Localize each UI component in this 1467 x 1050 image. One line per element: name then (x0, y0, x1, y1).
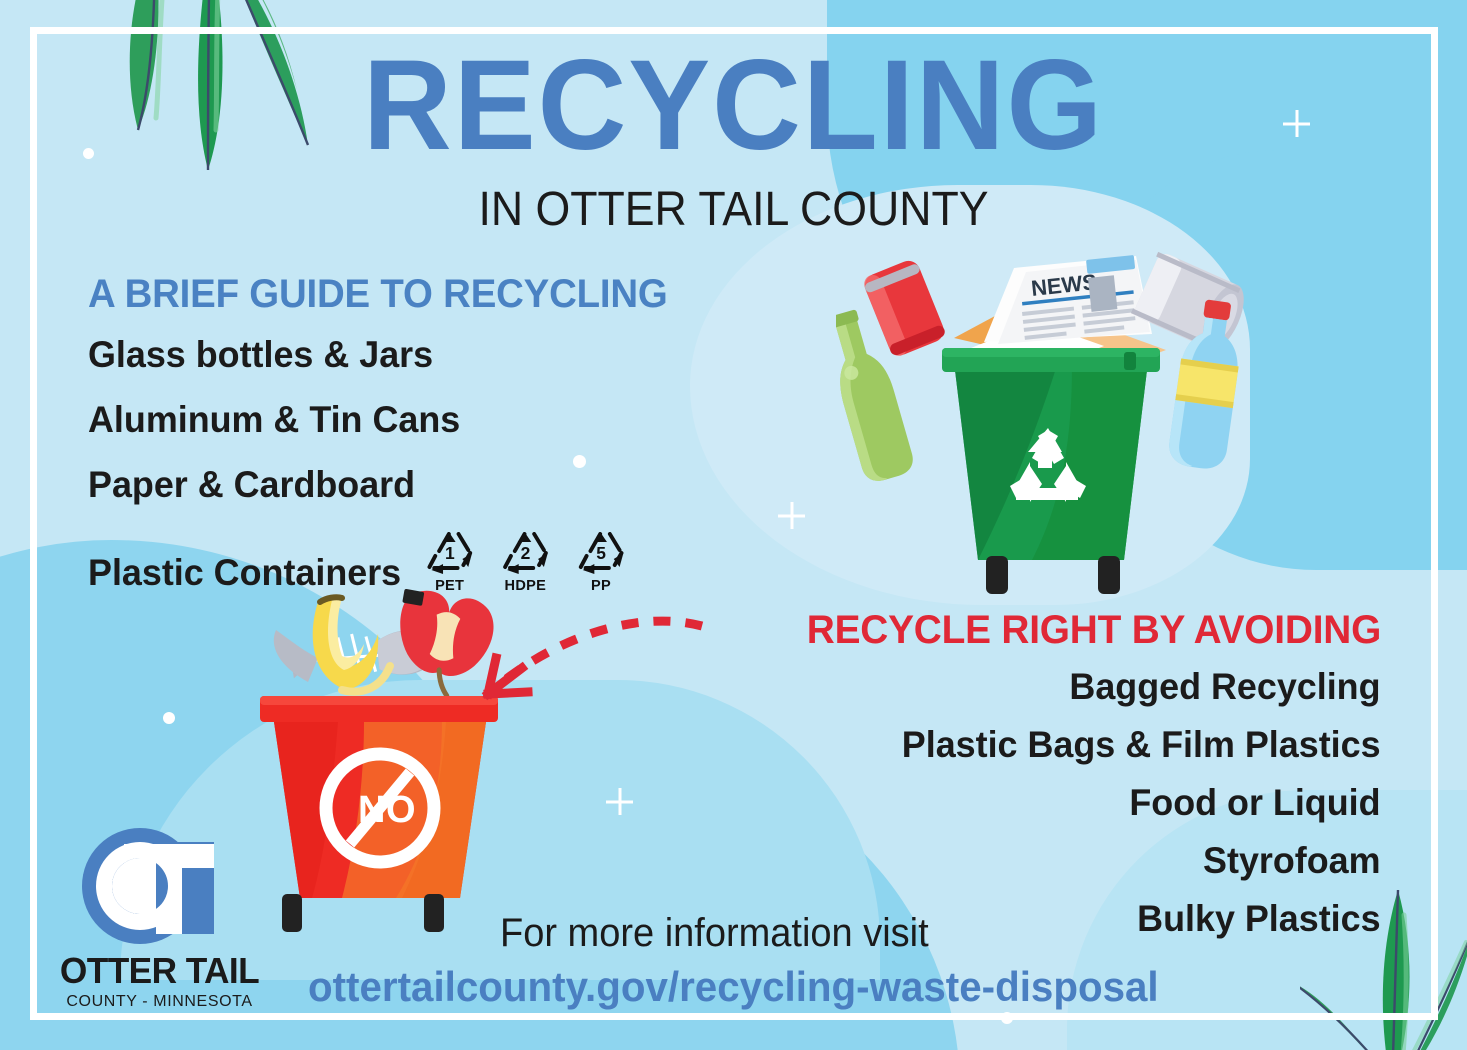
resin-code-5-icon: 5 PP (574, 529, 628, 594)
otter-tail-county-logo: OTTER TAIL COUNTY - MINNESOTA (52, 828, 267, 1011)
svg-text:N: N (358, 789, 385, 831)
resin-code-label: HDPE (498, 577, 552, 594)
resin-code-2-icon: 2 HDPE (498, 529, 552, 594)
svg-text:O: O (386, 789, 416, 831)
dot-decoration (1001, 1012, 1013, 1024)
svg-text:2: 2 (520, 543, 530, 563)
list-item: Glass bottles & Jars (88, 334, 628, 376)
resin-code-label: PET (422, 577, 476, 594)
avoid-heading: RECYCLE RIGHT BY AVOIDING (807, 608, 1381, 653)
list-item: Plastic Bags & Film Plastics (902, 724, 1381, 766)
newspaper-icon: NEWS (984, 255, 1152, 344)
list-item: Plastic Containers 1 PET (88, 529, 628, 594)
page-title: RECYCLING (29, 42, 1437, 170)
footer-url-link[interactable]: ottertailcounty.gov/recycling-waste-disp… (308, 963, 1159, 1011)
bin-wheel (986, 556, 1008, 594)
list-item: Food or Liquid (902, 782, 1381, 824)
logo-subtitle: COUNTY - MINNESOTA (52, 993, 267, 1011)
dot-decoration (163, 712, 175, 724)
green-recycling-bin-illustration: NEWS (836, 238, 1266, 598)
logo-mark-icon (78, 828, 253, 948)
sparkle-plus-icon (778, 502, 805, 529)
page-subtitle: IN OTTER TAIL COUNTY (51, 182, 1415, 237)
bin-wheel (424, 894, 444, 932)
recycling-poster: RECYCLING IN OTTER TAIL COUNTY NEWS (0, 0, 1467, 1050)
list-item: Aluminum & Tin Cans (88, 399, 628, 441)
list-item: Bagged Recycling (902, 666, 1381, 708)
bin-wheel (1098, 556, 1120, 594)
sparkle-plus-icon (606, 788, 633, 815)
resin-code-label: PP (574, 577, 628, 594)
aluminum-can-icon (861, 257, 947, 358)
list-item: Bulky Plastics (902, 898, 1381, 940)
list-item-label: Plastic Containers (88, 552, 401, 594)
resin-code-1-icon: 1 PET (422, 529, 476, 594)
list-item: Paper & Cardboard (88, 464, 628, 506)
avoid-items-list: Bagged Recycling Plastic Bags & Film Pla… (887, 666, 1381, 956)
svg-text:5: 5 (596, 543, 606, 563)
logo-name: OTTER TAIL (54, 950, 265, 992)
list-item: Styrofoam (902, 840, 1381, 882)
guide-heading: A BRIEF GUIDE TO RECYCLING (88, 272, 668, 317)
tin-can-icon (1131, 250, 1253, 355)
bin-wheel (282, 894, 302, 932)
svg-text:1: 1 (445, 543, 455, 563)
footer-info-text: For more information visit (500, 911, 929, 956)
recyclable-items-list: Glass bottles & Jars Aluminum & Tin Cans… (88, 334, 645, 617)
